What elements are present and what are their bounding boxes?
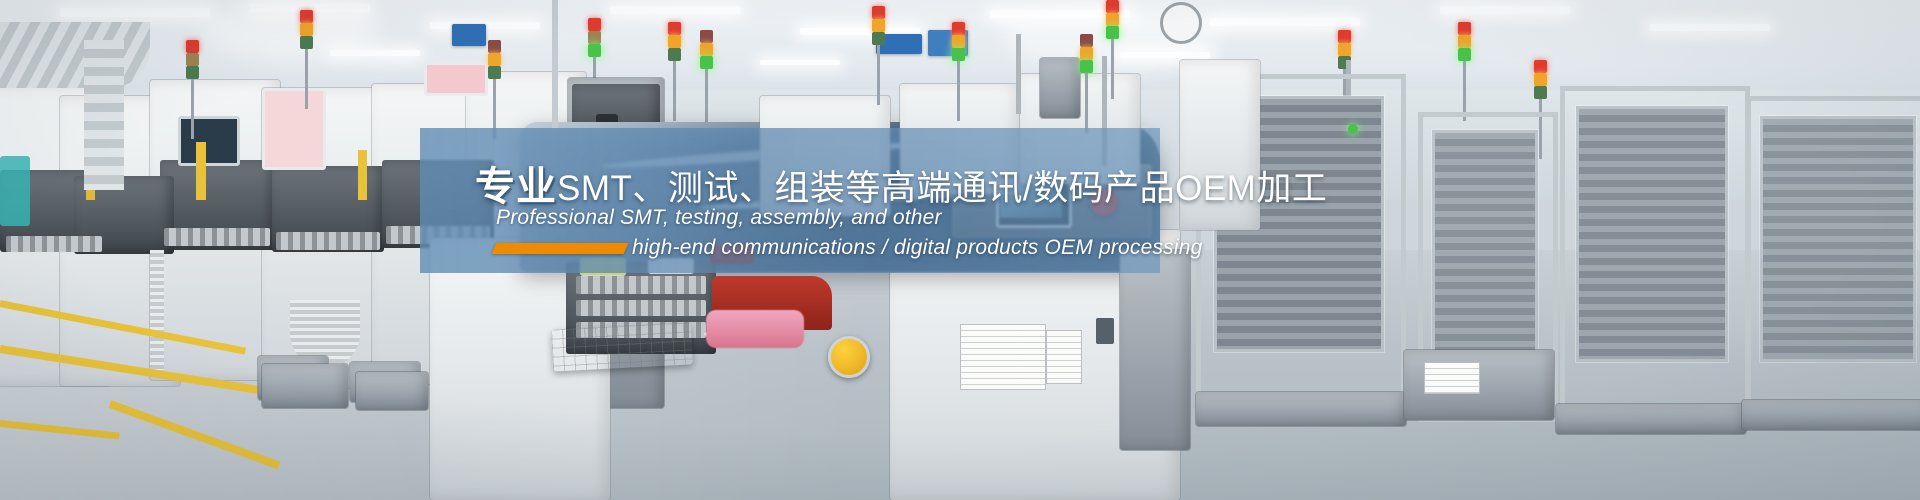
- hero-subtitle-line-1: Professional SMT, testing, assembly, and…: [496, 206, 942, 230]
- hero-subtitle-line-2: high-end communications / digital produc…: [632, 236, 1203, 260]
- hero-headline: 专业SMT、测试、组装等高端通讯/数码产品OEM加工: [475, 154, 1327, 212]
- accent-bar: [492, 243, 629, 254]
- hero-banner: 专业SMT、测试、组装等高端通讯/数码产品OEM加工 Professional …: [0, 0, 1920, 500]
- headline-rest: SMT、测试、组装等高端通讯/数码产品OEM加工: [557, 169, 1327, 208]
- headline-emphasis: 专业: [475, 165, 557, 209]
- hero-text-overlay-panel: 专业SMT、测试、组装等高端通讯/数码产品OEM加工 Professional …: [420, 128, 1160, 273]
